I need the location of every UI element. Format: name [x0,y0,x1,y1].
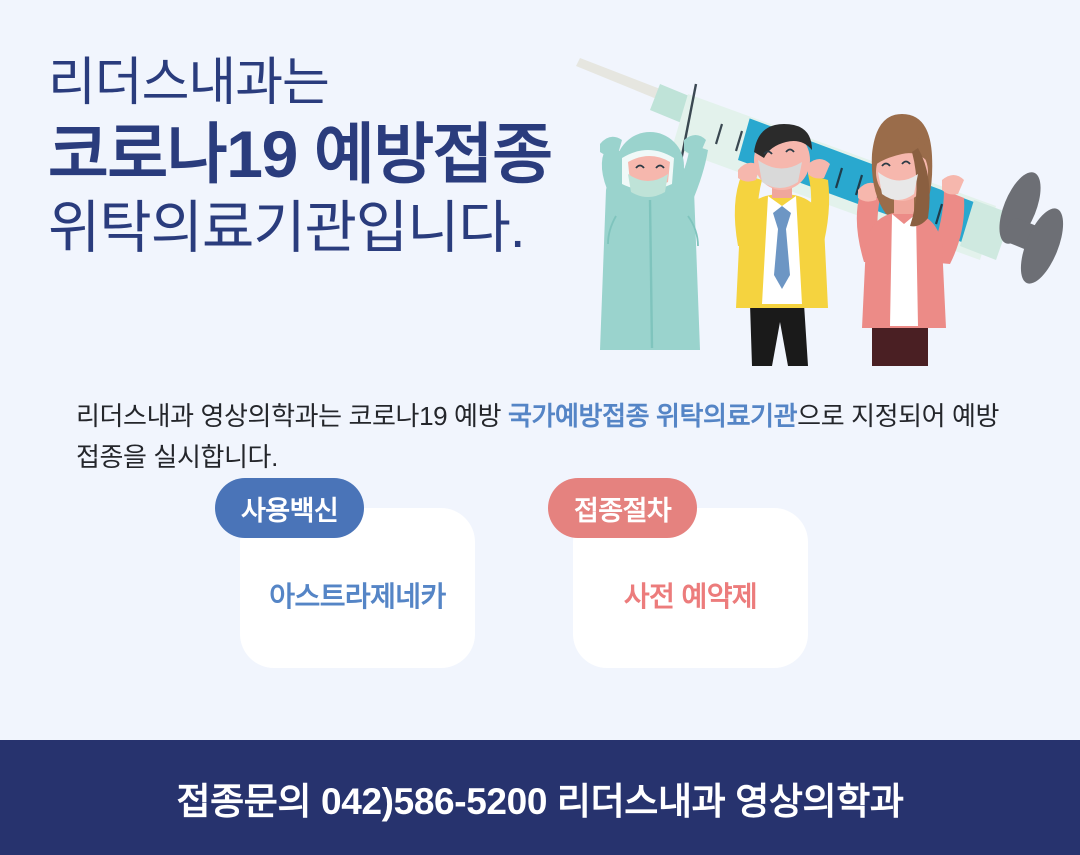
card-procedure-pill-label: 접종절차 [548,478,697,538]
figure-woman-coral [857,114,964,366]
syringe-people-illustration [572,48,1080,366]
headline: 리더스내과는 코로나19 예방접종 위탁의료기관입니다. [48,52,552,262]
vaccination-banner: 리더스내과는 코로나19 예방접종 위탁의료기관입니다. 리더스내과 영상의학과… [0,0,1080,855]
headline-line-1: 리더스내과는 [48,52,552,114]
footer-contact-bar: 접종문의 042)586-5200 리더스내과 영상의학과 [0,740,1080,855]
card-vaccine-value: 아스트라제네카 [269,575,445,615]
body-copy: 리더스내과 영상의학과는 코로나19 예방 국가예방접종 위탁의료기관으로 지정… [76,396,1016,478]
card-vaccine: 아스트라제네카 사용백신 [215,478,450,638]
card-procedure: 사전 예약제 접종절차 [548,478,783,638]
syringe-plunger-group [960,167,1072,289]
body-copy-highlight: 국가예방접종 위탁의료기관 [508,401,797,431]
body-copy-part1: 리더스내과 영상의학과는 코로나19 예방 [76,401,508,431]
footer-contact-text: 접종문의 042)586-5200 리더스내과 영상의학과 [176,771,903,825]
card-vaccine-pill-label: 사용백신 [215,478,364,538]
figure-medical-worker [600,132,708,350]
info-cards: 아스트라제네카 사용백신 사전 예약제 접종절차 [215,478,783,638]
card-procedure-value: 사전 예약제 [624,575,757,615]
syringe-barrel-group [672,84,996,260]
figure-man-yellow [735,124,830,366]
syringe-graduations [716,124,942,224]
headline-line-2: 코로나19 예방접종 [48,116,552,192]
syringe-needle-group [576,58,694,124]
headline-line-3: 위탁의료기관입니다. [48,194,552,262]
